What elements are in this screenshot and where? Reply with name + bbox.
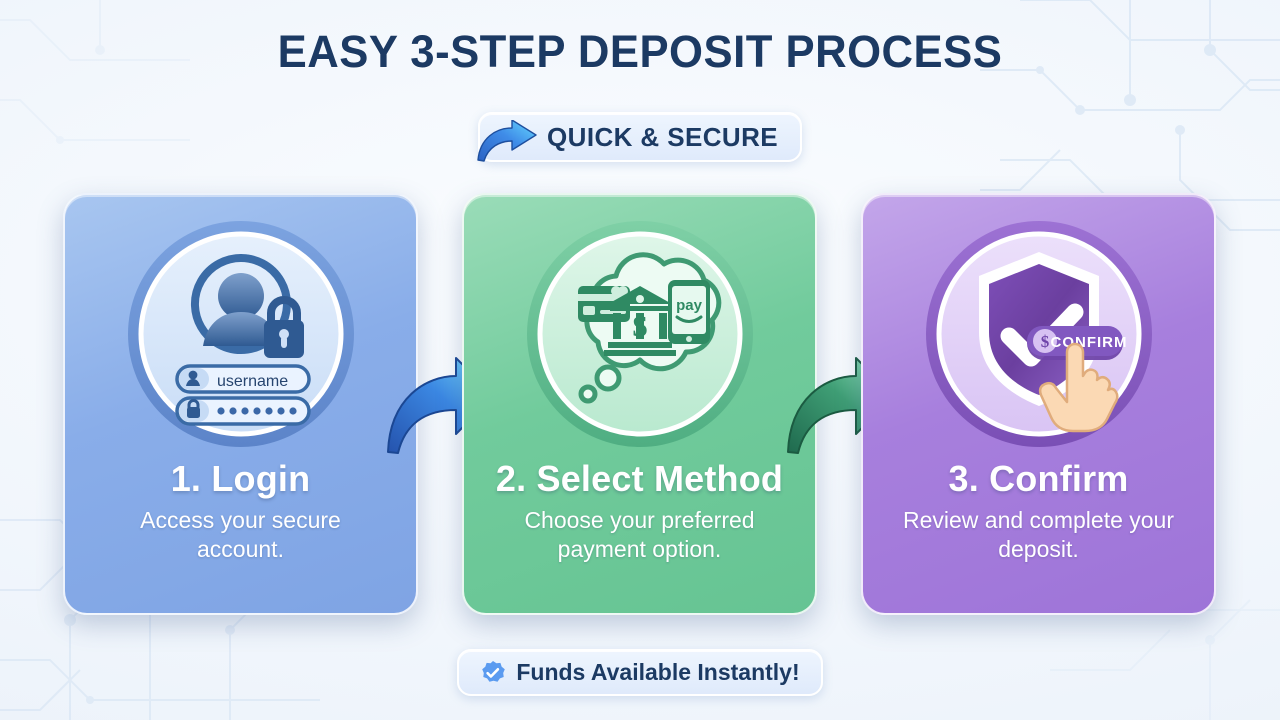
- funds-available-badge: Funds Available Instantly!: [457, 649, 823, 696]
- thought-bubble-payment-methods-icon: $ pay: [520, 214, 760, 454]
- step-description-1: Access your secure account.: [96, 506, 386, 564]
- username-field: username: [177, 366, 309, 392]
- curved-arrow-right-icon: [474, 120, 538, 162]
- confirm-button-label: CONFIRM: [1050, 334, 1127, 351]
- select-method-icon-wrap: $ pay: [520, 214, 760, 454]
- login-icon-wrap: username: [121, 214, 361, 454]
- infographic-canvas: EASY 3-STEP DEPOSIT PROCESS QUICK & SECU…: [0, 0, 1280, 720]
- step-card-login[interactable]: username 1. Login Access y: [63, 193, 418, 615]
- page-title: EASY 3-STEP DEPOSIT PROCESS: [19, 26, 1261, 78]
- mobile-pay-icon: pay: [668, 280, 710, 344]
- quick-secure-label: QUICK & SECURE: [547, 122, 778, 153]
- password-field: [177, 398, 309, 424]
- step-card-select-method[interactable]: $ pay 2. Select Method Choose your prefe…: [462, 193, 817, 615]
- step-title-2: 2. Select Method: [496, 458, 783, 500]
- svg-text:$: $: [1040, 332, 1049, 351]
- user-lock-login-icon: username: [121, 214, 361, 454]
- shield-check-confirm-icon: $ CONFIRM: [919, 214, 1159, 454]
- step-title-3: 3. Confirm: [948, 458, 1128, 500]
- step-description-2: Choose your preferred payment option.: [495, 506, 785, 564]
- verified-check-badge-icon: [480, 660, 506, 686]
- step-title-1: 1. Login: [171, 458, 311, 500]
- mobile-pay-label: pay: [676, 297, 703, 314]
- step-description-3: Review and complete your deposit.: [894, 506, 1184, 564]
- svg-text:$: $: [632, 310, 647, 343]
- quick-secure-badge: QUICK & SECURE: [478, 112, 802, 162]
- step-card-confirm[interactable]: $ CONFIRM 3. Confirm Review and complete…: [861, 193, 1216, 615]
- username-value: username: [217, 373, 288, 390]
- funds-available-label: Funds Available Instantly!: [516, 659, 799, 686]
- confirm-icon-wrap: $ CONFIRM: [919, 214, 1159, 454]
